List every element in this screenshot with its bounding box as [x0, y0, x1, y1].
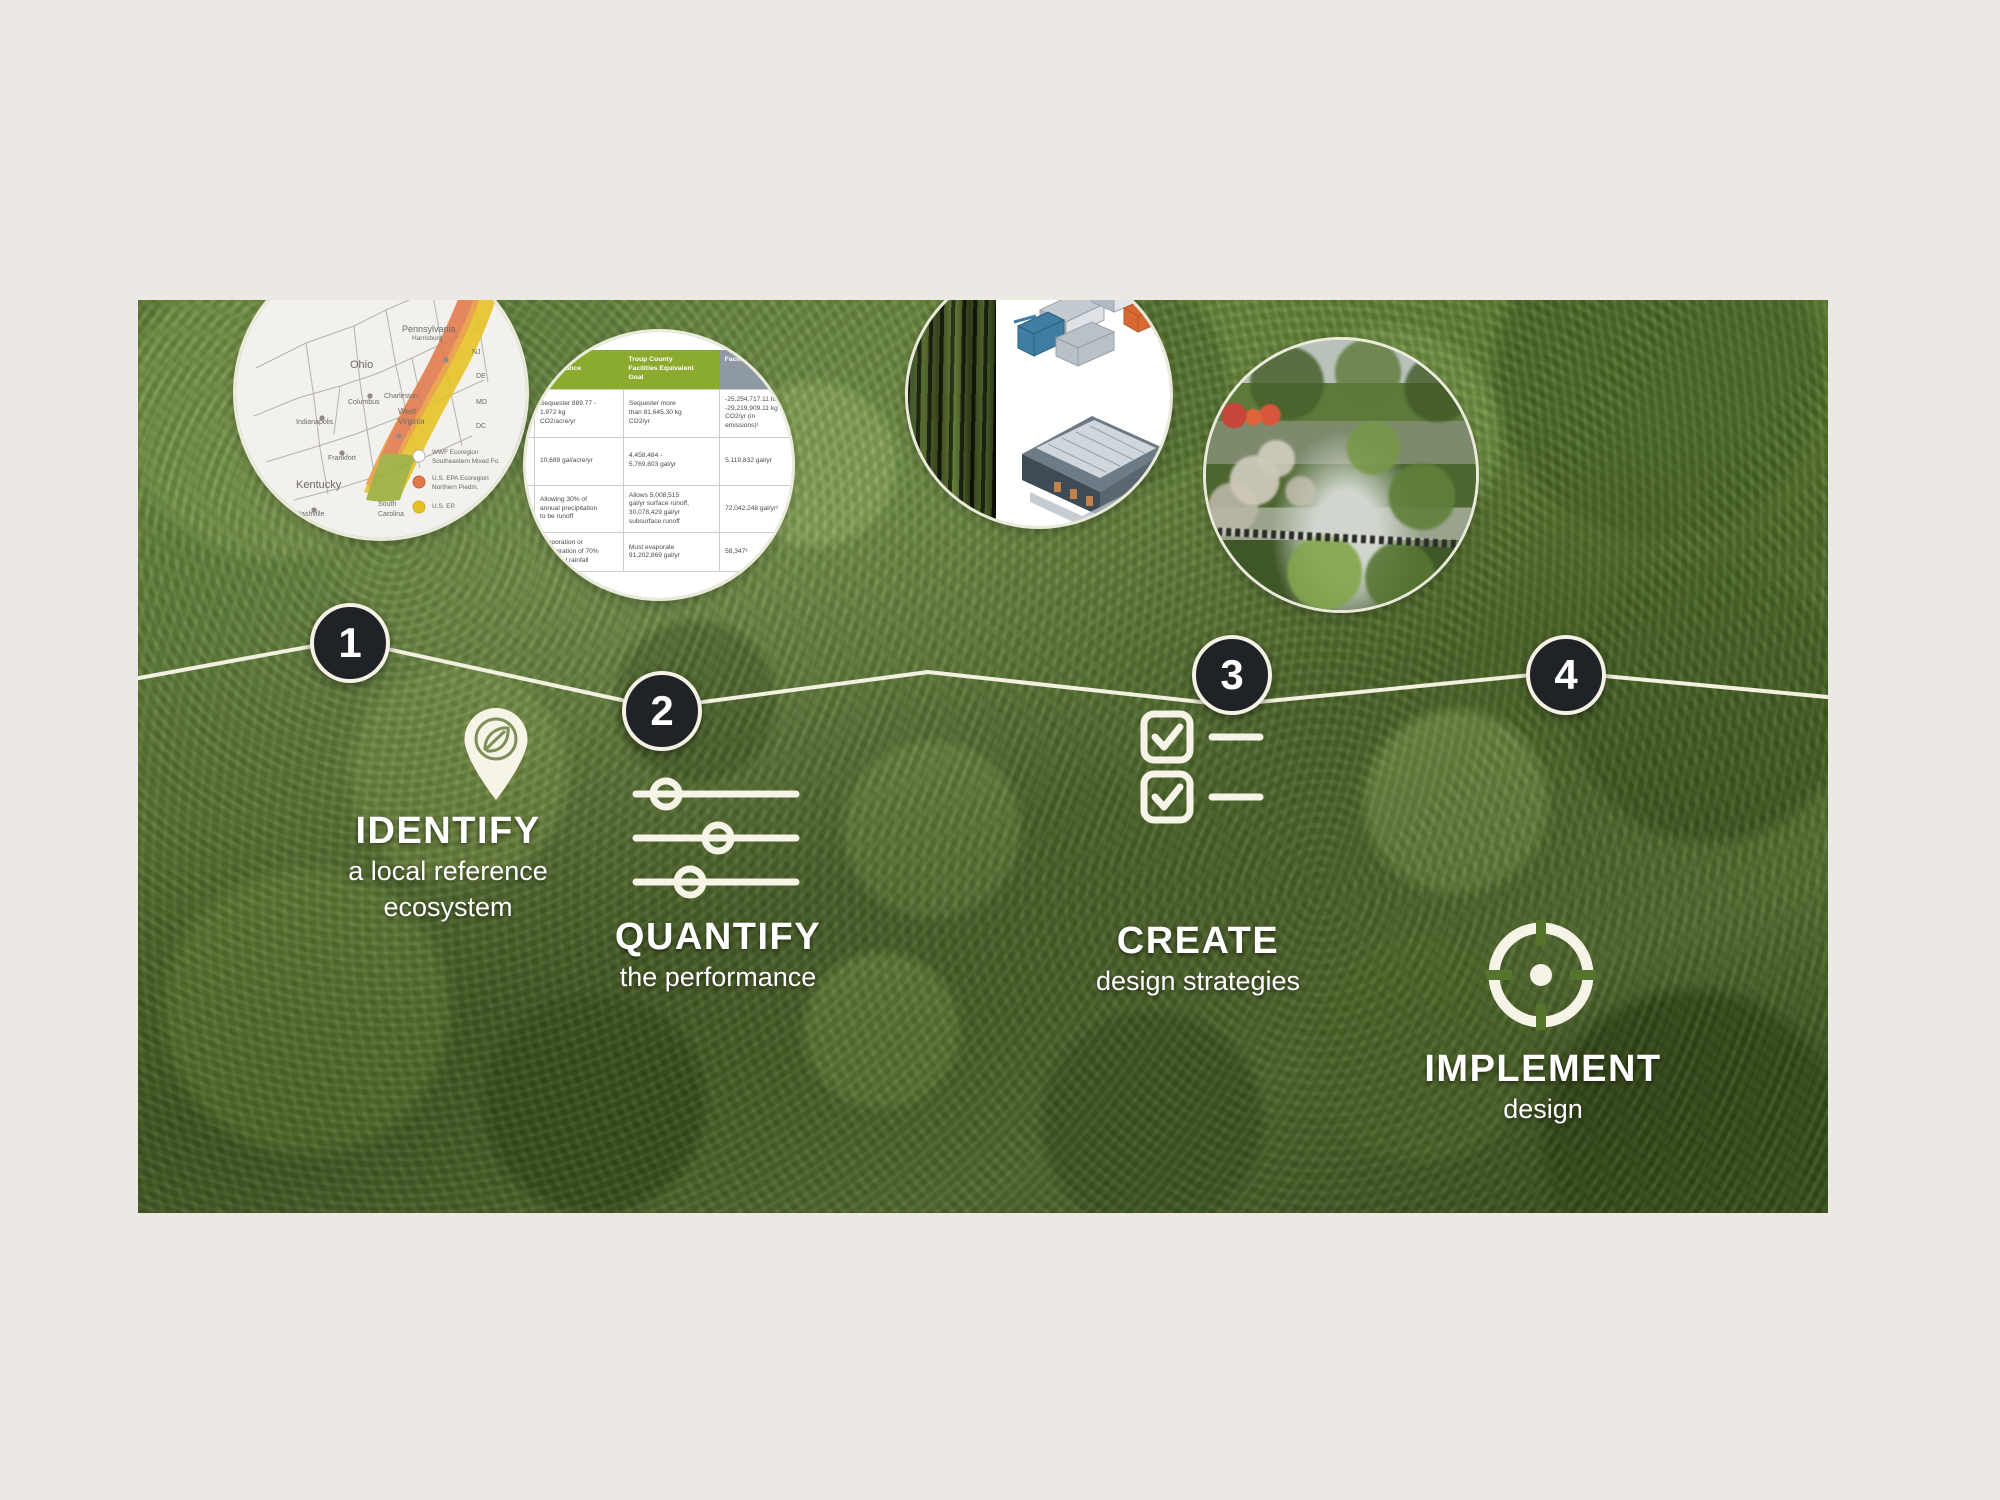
- axon-diagram-icon: [996, 300, 1170, 526]
- svg-text:Southeastern Mixed Fo.: Southeastern Mixed Fo.: [432, 458, 500, 465]
- svg-text:NJ: NJ: [472, 349, 481, 356]
- cell-goal: Allows 5,008,515gal/yr surface runoff,30…: [623, 485, 719, 533]
- architecture-drawings: [996, 300, 1170, 526]
- cell-ecosystem: 10,689 gal/acre/yr: [535, 437, 624, 485]
- table-row: SustainableWatershedConsumptiveUse 10,68…: [526, 437, 792, 485]
- forest-photo: [908, 300, 996, 526]
- row-metric: onquestration: [526, 389, 535, 437]
- svg-text:Nashville: Nashville: [296, 511, 325, 518]
- cell-goal: Must evaporate91,202,869 gal/yr: [623, 533, 719, 572]
- svg-text:Indianapolis: Indianapolis: [296, 419, 334, 426]
- cell-facility: 5,119,832 gal/yr: [720, 437, 792, 485]
- svg-text:Harrisburg: Harrisburg: [412, 335, 443, 342]
- step-badge-3[interactable]: 3: [1192, 635, 1272, 715]
- svg-text:Charleston: Charleston: [384, 393, 418, 400]
- target-crosshair-icon: [1486, 920, 1596, 1030]
- checklist-icon: [1138, 708, 1278, 828]
- svg-text:Columbus: Columbus: [348, 399, 380, 406]
- create-collage: [908, 300, 1170, 526]
- circle-implement-photo[interactable]: [1206, 340, 1476, 610]
- step-caption-create: CREATE design strategies: [988, 922, 1408, 998]
- step-caption-quantify: QUANTIFY the performance: [548, 918, 888, 994]
- step-badge-2[interactable]: 2: [622, 671, 702, 751]
- table-row: noff Rate Allowing 30% ofannual precipit…: [526, 485, 792, 533]
- svg-text:DC: DC: [476, 423, 486, 430]
- svg-text:Ohio: Ohio: [350, 359, 373, 371]
- step-subtitle-create: design strategies: [988, 966, 1408, 998]
- svg-text:Pennsylvania: Pennsylvania: [402, 324, 456, 334]
- table-header-metric: [526, 350, 535, 389]
- step-subtitle-implement: design: [1348, 1094, 1738, 1126]
- svg-text:U.S. EP.: U.S. EP.: [432, 503, 456, 510]
- svg-text:Northern Piedm.: Northern Piedm.: [432, 484, 479, 491]
- performance-table-body: onquestration Sequester 889.77 -1,972 kg…: [526, 389, 792, 572]
- svg-text:U.S. EPA Ecoregion: U.S. EPA Ecoregion: [432, 475, 489, 482]
- cell-facility: 72,042,248 gal/yr²: [720, 485, 792, 533]
- circle-create-collage[interactable]: [908, 300, 1170, 526]
- step-caption-implement: IMPLEMENT design: [1348, 1050, 1738, 1126]
- table-row: n Evaporation ortranspiration of 70%of a…: [526, 533, 792, 572]
- row-metric: n: [526, 533, 535, 572]
- cell-facility: -25,254,717.11 to-29,219,909.11 kgCO2/yr…: [720, 389, 792, 437]
- step-subtitle-quantify: the performance: [548, 962, 888, 994]
- cell-ecosystem: Evaporation ortranspiration of 70%of ann…: [535, 533, 624, 572]
- step-subtitle-identify-line1: a local reference: [268, 856, 628, 888]
- cell-goal: Sequester morethan 81,645.30 kgCO2/yr: [623, 389, 719, 437]
- cell-goal: 4,458,484 -5,769,803 gal/yr: [623, 437, 719, 485]
- map-pin-leaf-icon: [458, 704, 534, 804]
- step-title-identify: IDENTIFY: [268, 812, 628, 852]
- table-header-equivalent-goal: Troup CountyFacilities EquivalentGoal: [623, 350, 719, 389]
- table-header-row: EcosystemPerformance Troup CountyFacilit…: [526, 350, 792, 389]
- svg-text:WWF Ecoregion: WWF Ecoregion: [432, 449, 479, 456]
- svg-text:Frankfort: Frankfort: [328, 455, 356, 462]
- performance-table-wrap: EcosystemPerformance Troup CountyFacilit…: [526, 332, 792, 598]
- cell-facility: 58,347³: [720, 533, 792, 572]
- cell-ecosystem: Allowing 30% ofannual precipitationto be…: [535, 485, 624, 533]
- map-legend: WWF Ecoregion Southeastern Mixed Fo. U.S…: [413, 449, 500, 513]
- vegetation-overlay: [1206, 340, 1476, 610]
- visitors-blur: [1222, 399, 1281, 431]
- step-caption-identify: IDENTIFY a local reference ecosystem: [268, 812, 628, 924]
- ecoregion-map-graphic: Ohio Pennsylvania West Virginia Kentucky…: [236, 300, 526, 538]
- svg-text:Kentucky: Kentucky: [296, 479, 342, 491]
- svg-text:DE: DE: [476, 373, 486, 380]
- svg-text:South: South: [378, 501, 396, 508]
- step-badge-1[interactable]: 1: [310, 603, 390, 683]
- svg-text:MD: MD: [476, 399, 487, 406]
- circle-identify-map[interactable]: Ohio Pennsylvania West Virginia Kentucky…: [236, 300, 526, 538]
- performance-table: EcosystemPerformance Troup CountyFacilit…: [526, 350, 792, 572]
- rain-garden-photo: [1206, 340, 1476, 610]
- svg-text:Carolina: Carolina: [378, 511, 404, 518]
- table-header-ecosystem-performance: EcosystemPerformance: [535, 350, 624, 389]
- cell-ecosystem: Sequester 889.77 -1,972 kgCO2/acre/yr: [535, 389, 624, 437]
- circle-quantify-table[interactable]: EcosystemPerformance Troup CountyFacilit…: [526, 332, 792, 598]
- row-metric: SustainableWatershedConsumptiveUse: [526, 437, 535, 485]
- table-row: onquestration Sequester 889.77 -1,972 kg…: [526, 389, 792, 437]
- step-title-implement: IMPLEMENT: [1348, 1050, 1738, 1090]
- infographic-canvas: Ohio Pennsylvania West Virginia Kentucky…: [138, 300, 1828, 1213]
- svg-text:ssee: ssee: [254, 513, 269, 520]
- step-title-create: CREATE: [988, 922, 1408, 962]
- table-header-facility: Facilit.: [720, 350, 792, 389]
- step-badge-4[interactable]: 4: [1526, 635, 1606, 715]
- step-title-quantify: QUANTIFY: [548, 918, 888, 958]
- sliders-icon: [628, 778, 806, 898]
- svg-text:West: West: [398, 407, 417, 416]
- row-metric: noff Rate: [526, 485, 535, 533]
- svg-text:Virginia: Virginia: [398, 417, 425, 426]
